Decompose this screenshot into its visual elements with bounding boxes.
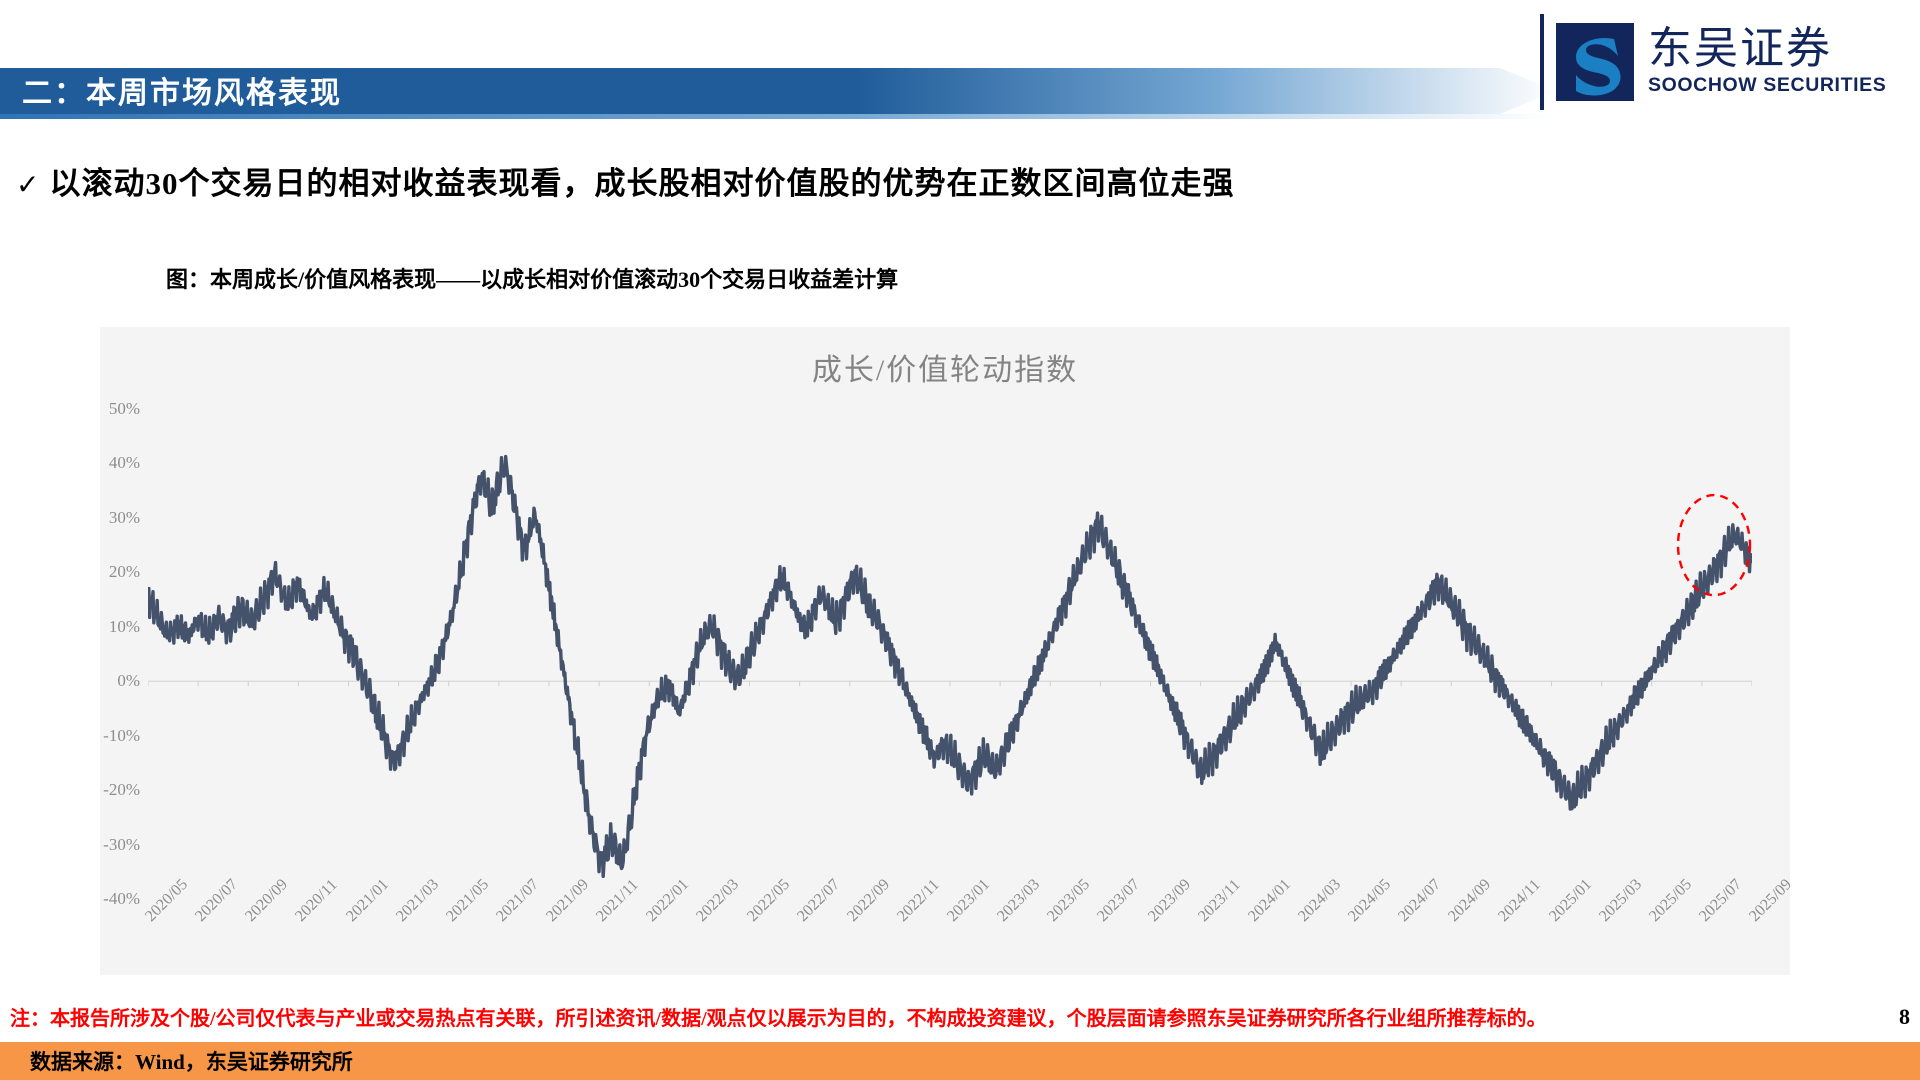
section-header-band: 二：本周市场风格表现 [0,68,1556,114]
y-axis-tick-label: 50% [80,399,140,419]
header-underline-divider [0,114,1556,119]
header-right-accent-bar [1540,14,1544,110]
company-logo: 东吴证券 SOOCHOW SECURITIES [1556,22,1896,102]
y-axis-tick-label: 10% [80,617,140,637]
y-axis-tick-label: 0% [80,671,140,691]
logo-chinese-name: 东吴证券 [1648,27,1886,72]
y-axis-tick-label: 30% [80,508,140,528]
figure-caption: 图：本周成长/价值风格表现——以成长相对价值滚动30个交易日收益差计算 [166,262,898,294]
y-axis-tick-label: -20% [80,780,140,800]
chart-title: 成长/价值轮动指数 [100,345,1790,389]
y-axis-tick-label: 20% [80,562,140,582]
page-number: 8 [1899,1004,1910,1030]
key-point-text: 以滚动30个交易日的相对收益表现看，成长股相对价值股的优势在正数区间高位走强 [49,158,1234,203]
checkmark-icon: ✓ [16,168,39,201]
y-axis-tick-label: 40% [80,453,140,473]
y-axis-tick-label: -30% [80,835,140,855]
source-bar: 数据来源：Wind，东吴证券研究所 [0,1042,1920,1080]
logo-wordmark: 东吴证券 SOOCHOW SECURITIES [1648,27,1886,97]
page-title: 二：本周市场风格表现 [22,68,342,112]
y-axis-tick-label: -40% [80,889,140,909]
x-axis-tick-label: 2025/09 [1746,876,1796,926]
key-point-bullet: ✓ 以滚动30个交易日的相对收益表现看，成长股相对价值股的优势在正数区间高位走强 [16,158,1234,203]
chart-plot-area [148,409,1752,899]
y-axis-tick-label: -10% [80,726,140,746]
chart-line-svg [148,409,1752,899]
chart-series-layer [148,457,1752,877]
chart-panel: 成长/价值轮动指数 50%40%30%20%10%0%-10%-20%-30%-… [100,327,1790,975]
soochow-logo-mark-icon [1556,23,1634,101]
disclaimer-note: 注：本报告所涉及个股/公司仅代表与产业或交易热点有关联，所引述资讯/数据/观点仅… [10,1002,1547,1031]
series-line-growth-value-rotation [148,457,1752,877]
chart-axis-layer [148,681,1752,686]
source-text: 数据来源：Wind，东吴证券研究所 [30,1046,353,1076]
logo-english-name: SOOCHOW SECURITIES [1648,74,1886,97]
slide-root: 东吴证券 SOOCHOW SECURITIES 二：本周市场风格表现 ✓ 以滚动… [0,0,1920,1080]
